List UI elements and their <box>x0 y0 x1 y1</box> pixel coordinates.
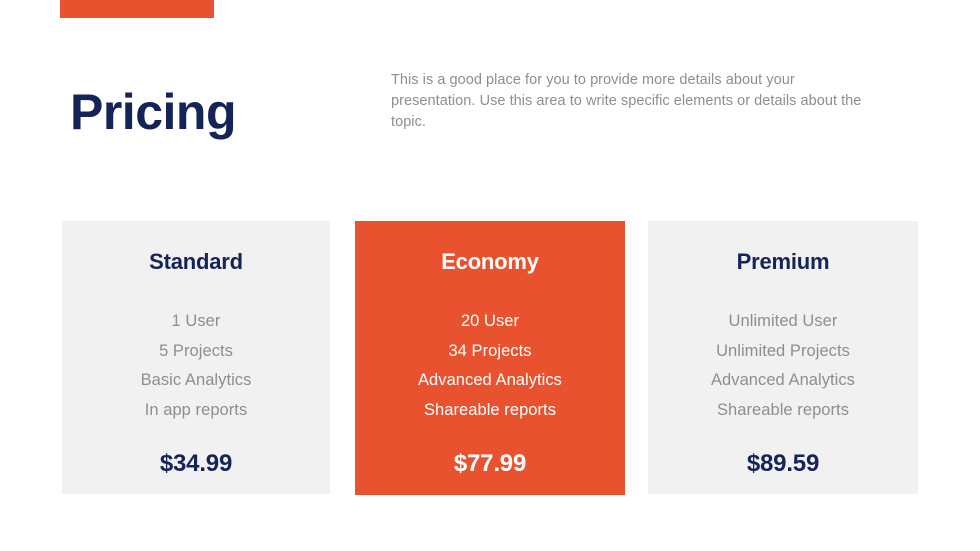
feature-list: 20 User 34 Projects Advanced Analytics S… <box>355 307 625 425</box>
pricing-slide: Pricing This is a good place for you to … <box>0 0 980 551</box>
pricing-card-premium[interactable]: Premium Unlimited User Unlimited Project… <box>648 221 918 494</box>
feature-item: Shareable reports <box>648 396 918 426</box>
feature-item: Unlimited User <box>648 307 918 337</box>
feature-item: 1 User <box>62 307 330 337</box>
card-price: $89.59 <box>648 449 918 479</box>
feature-item: 5 Projects <box>62 337 330 367</box>
pricing-card-economy[interactable]: Economy 20 User 34 Projects Advanced Ana… <box>355 221 625 495</box>
feature-item: Advanced Analytics <box>355 366 625 396</box>
pricing-card-standard[interactable]: Standard 1 User 5 Projects Basic Analyti… <box>62 221 330 494</box>
card-price: $77.99 <box>355 449 625 479</box>
feature-list: Unlimited User Unlimited Projects Advanc… <box>648 307 918 425</box>
card-title: Economy <box>355 247 625 277</box>
feature-item: Advanced Analytics <box>648 366 918 396</box>
feature-item: Basic Analytics <box>62 366 330 396</box>
feature-list: 1 User 5 Projects Basic Analytics In app… <box>62 307 330 425</box>
feature-item: Unlimited Projects <box>648 337 918 367</box>
top-accent-bar <box>60 0 214 18</box>
feature-item: In app reports <box>62 396 330 426</box>
feature-item: 20 User <box>355 307 625 337</box>
page-title: Pricing <box>70 82 236 142</box>
feature-item: Shareable reports <box>355 396 625 426</box>
card-title: Premium <box>648 247 918 277</box>
card-price: $34.99 <box>62 449 330 479</box>
card-title: Standard <box>62 247 330 277</box>
feature-item: 34 Projects <box>355 337 625 367</box>
intro-paragraph: This is a good place for you to provide … <box>391 70 883 133</box>
